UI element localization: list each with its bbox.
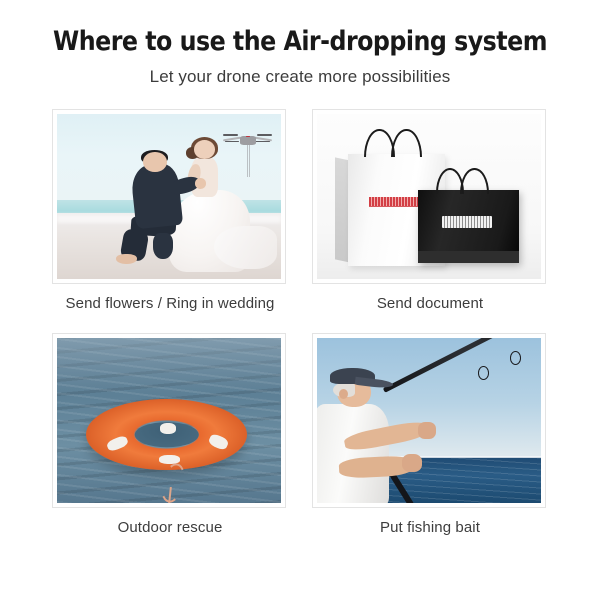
drone-rotor <box>257 134 272 135</box>
caption-wedding: Send flowers / Ring in wedding <box>52 295 288 312</box>
use-case-card-wedding[interactable]: Send flowers / Ring in wedding <box>52 109 288 312</box>
photo-beach-proposal <box>57 114 281 279</box>
fisherman-hand <box>402 454 422 472</box>
rod-guide-ring <box>478 366 489 380</box>
photo-frame-rescue[interactable] <box>52 333 286 508</box>
page-subtitle: Let your drone create more possibilities <box>0 67 600 87</box>
drone-icon <box>223 129 272 150</box>
use-case-card-document[interactable]: Send document <box>312 109 548 312</box>
bride-dress-train <box>214 226 277 269</box>
lifebuoy-band <box>160 423 176 434</box>
use-case-card-fishing[interactable]: Put fishing bait <box>312 333 548 536</box>
fisherman-shirt <box>317 404 389 503</box>
groom-head <box>143 152 167 172</box>
photo-frame-wedding[interactable] <box>52 109 286 284</box>
caption-document: Send document <box>312 295 548 312</box>
drone-rotor <box>255 141 270 142</box>
photo-frame-fishing[interactable] <box>312 333 546 508</box>
lifebuoy-icon <box>86 399 247 470</box>
caption-rescue: Outdoor rescue <box>52 519 288 536</box>
brand-logo-white <box>442 216 491 228</box>
lifebuoy-band <box>106 435 130 453</box>
use-case-gallery: Send flowers / Ring in wedding Send docu… <box>52 109 548 536</box>
page-header: Where to use the Air-dropping system Let… <box>0 0 600 87</box>
rod-guide-ring <box>510 351 521 365</box>
caption-fishing: Put fishing bait <box>312 519 548 536</box>
photo-fisherman <box>317 338 541 503</box>
fisherman-hand <box>418 422 436 439</box>
lifebuoy-band <box>207 433 230 452</box>
drop-line <box>247 145 248 177</box>
photo-frame-document[interactable] <box>312 109 546 284</box>
black-bag-band <box>418 251 519 263</box>
drone-rotor <box>223 134 238 135</box>
groom-foot <box>116 254 136 264</box>
groom-hand <box>195 178 206 189</box>
photo-lifebuoy <box>57 338 281 503</box>
groom-knee <box>153 233 173 259</box>
water-highlight <box>57 338 281 394</box>
photo-shopping-bags <box>317 114 541 279</box>
drone-body <box>240 136 257 145</box>
drone-rotor <box>225 141 240 142</box>
drop-line <box>249 145 250 177</box>
page-title: Where to use the Air-dropping system <box>36 26 564 57</box>
use-case-card-rescue[interactable]: Outdoor rescue <box>52 333 288 536</box>
